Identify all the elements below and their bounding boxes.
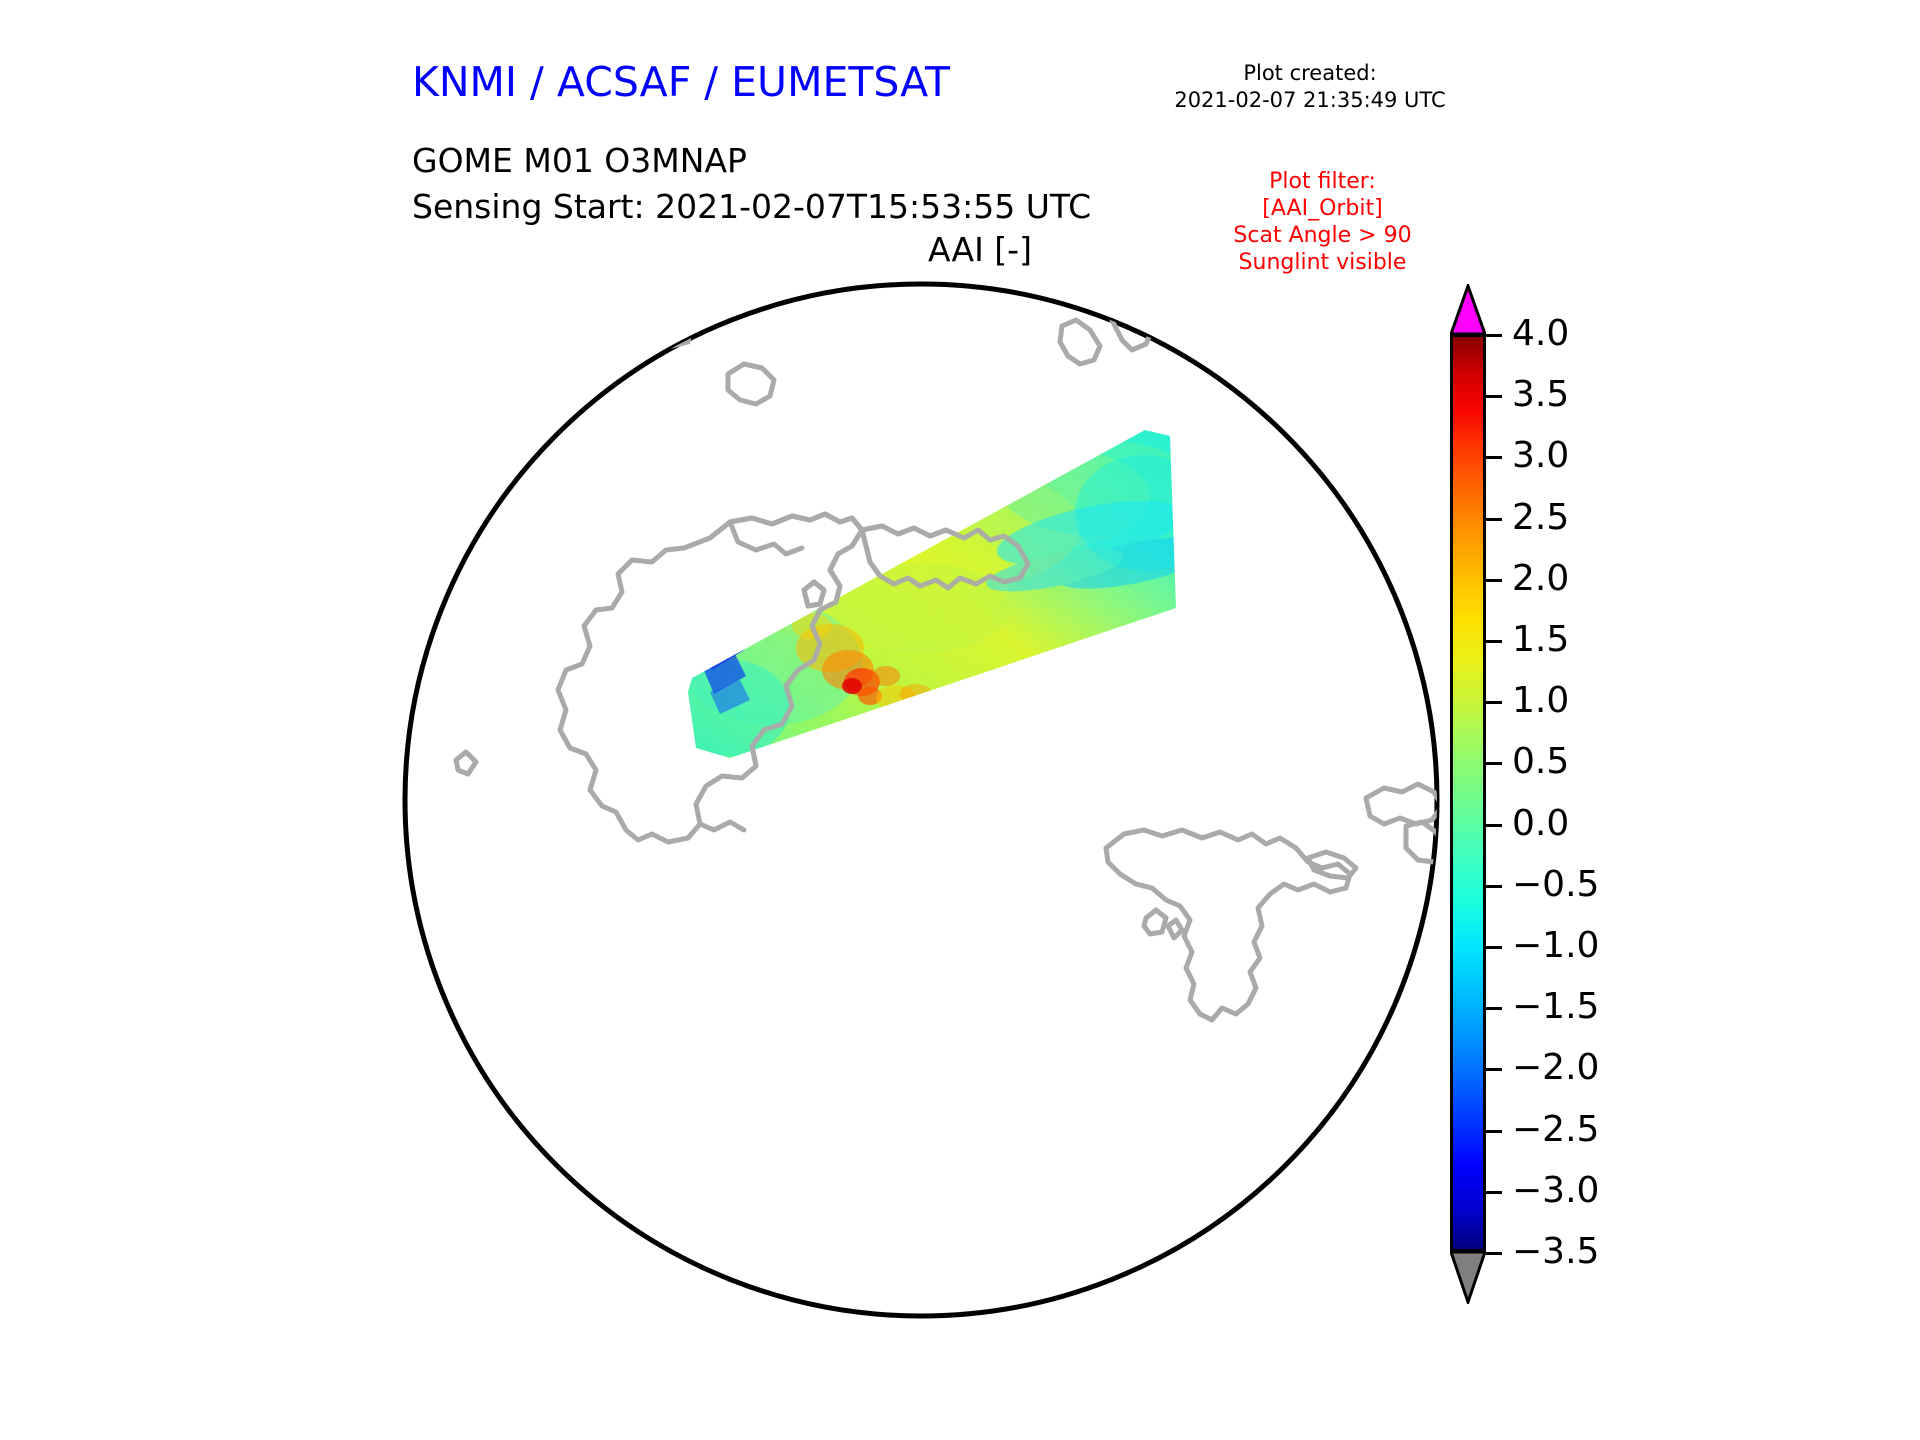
plot-filter-name: [AAI_Orbit] bbox=[1185, 195, 1460, 222]
globe-outline bbox=[405, 284, 1437, 1316]
colorbar-over-range-arrow bbox=[1450, 284, 1486, 336]
colorbar-tick-label: −1.5 bbox=[1512, 989, 1599, 1025]
dataset-info-block: GOME M01 O3MNAP Sensing Start: 2021-02-0… bbox=[412, 138, 1091, 230]
polar-map bbox=[400, 278, 1450, 1326]
colorbar-tick-label: −0.5 bbox=[1512, 867, 1599, 903]
colorbar-tick-label: 3.5 bbox=[1512, 377, 1569, 413]
colorbar-tick-label: −1.0 bbox=[1512, 928, 1599, 964]
colorbar-gradient bbox=[1450, 334, 1486, 1252]
quantity-title: AAI [-] bbox=[700, 230, 1260, 269]
colorbar-tick-label: 0.0 bbox=[1512, 806, 1569, 842]
plot-created-timestamp: 2021-02-07 21:35:49 UTC bbox=[1160, 87, 1460, 114]
colorbar-tick-mark bbox=[1486, 334, 1502, 337]
australia-coastline bbox=[1254, 284, 1352, 374]
sensing-start-line: Sensing Start: 2021-02-07T15:53:55 UTC bbox=[412, 184, 1091, 230]
plot-filter-condition: Scat Angle > 90 bbox=[1185, 222, 1460, 249]
colorbar: 4.03.53.02.52.01.51.00.50.0−0.5−1.0−1.5−… bbox=[1448, 280, 1708, 1310]
plot-filter-block: Plot filter: [AAI_Orbit] Scat Angle > 90… bbox=[1185, 168, 1460, 276]
colorbar-tick-mark bbox=[1486, 1068, 1502, 1071]
colorbar-tick-mark bbox=[1486, 518, 1502, 521]
figure-canvas: KNMI / ACSAF / EUMETSAT Plot created: 20… bbox=[0, 0, 1920, 1440]
plot-created-label: Plot created: bbox=[1160, 60, 1460, 87]
colorbar-tick-mark bbox=[1486, 579, 1502, 582]
organisation-title: KNMI / ACSAF / EUMETSAT bbox=[412, 58, 950, 106]
colorbar-tick-mark bbox=[1486, 395, 1502, 398]
instrument-product-line: GOME M01 O3MNAP bbox=[412, 138, 1091, 184]
colorbar-tick-label: −3.5 bbox=[1512, 1234, 1599, 1270]
colorbar-tick-mark bbox=[1486, 1191, 1502, 1194]
colorbar-tick-mark bbox=[1486, 640, 1502, 643]
colorbar-tick-label: 1.0 bbox=[1512, 683, 1569, 719]
colorbar-tick-mark bbox=[1486, 762, 1502, 765]
plot-filter-title: Plot filter: bbox=[1185, 168, 1460, 195]
colorbar-tick-label: 4.0 bbox=[1512, 316, 1569, 352]
colorbar-tick-mark bbox=[1486, 1007, 1502, 1010]
plot-created-block: Plot created: 2021-02-07 21:35:49 UTC bbox=[1160, 60, 1460, 114]
subantarctic-island-small-coastline bbox=[660, 322, 690, 346]
colorbar-tick-label: 2.0 bbox=[1512, 561, 1569, 597]
colorbar-tick-label: −3.0 bbox=[1512, 1173, 1599, 1209]
colorbar-tick-mark bbox=[1486, 701, 1502, 704]
colorbar-tick-label: 2.5 bbox=[1512, 500, 1569, 536]
colorbar-tick-mark bbox=[1486, 824, 1502, 827]
colorbar-tick-mark bbox=[1486, 1130, 1502, 1133]
colorbar-tick-mark bbox=[1486, 1252, 1502, 1255]
colorbar-tick-mark bbox=[1486, 946, 1502, 949]
colorbar-tick-label: −2.5 bbox=[1512, 1112, 1599, 1148]
colorbar-tick-label: 0.5 bbox=[1512, 744, 1569, 780]
colorbar-tick-label: 1.5 bbox=[1512, 622, 1569, 658]
colorbar-tick-mark bbox=[1486, 885, 1502, 888]
colorbar-tick-label: −2.0 bbox=[1512, 1050, 1599, 1086]
globe-svg bbox=[400, 278, 1450, 1326]
colorbar-under-range-arrow bbox=[1450, 1248, 1486, 1304]
colorbar-tick-label: 3.0 bbox=[1512, 438, 1569, 474]
colorbar-tick-mark bbox=[1486, 456, 1502, 459]
plot-filter-sunglint: Sunglint visible bbox=[1185, 249, 1460, 276]
